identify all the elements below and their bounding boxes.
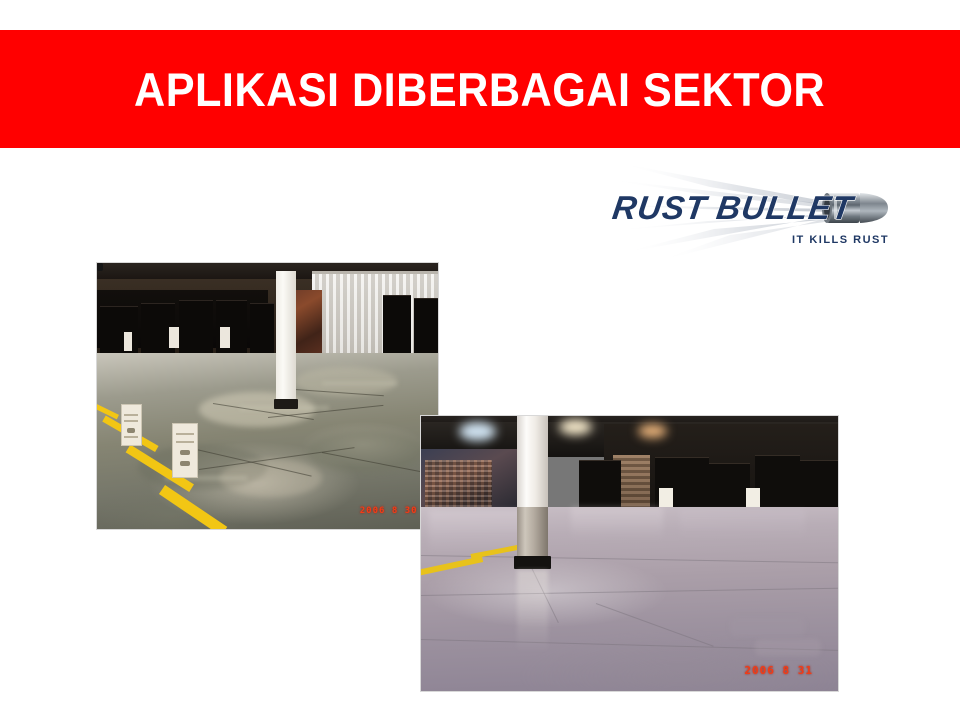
ceiling-light [638, 424, 667, 438]
floor-scuff [322, 382, 397, 385]
presentation-slide: APLIKASI DIBERBAGAI SEKTOR [0, 0, 960, 720]
ceiling-light [459, 422, 497, 441]
shelf-label [169, 327, 179, 348]
display-unit [179, 300, 213, 354]
shelf-label [124, 332, 132, 351]
display-unit [250, 303, 274, 355]
title-banner: APLIKASI DIBERBAGAI SEKTOR [0, 30, 960, 148]
shelf-label [220, 327, 230, 348]
ceiling-light [559, 419, 592, 436]
floor-patch [730, 617, 805, 635]
floor-reflection [680, 510, 805, 539]
display-unit [383, 295, 410, 355]
floor-reflection [571, 507, 663, 540]
support-column-base [514, 556, 550, 568]
before-photo[interactable]: 2006 8 30 [96, 262, 439, 530]
hanging-sign [121, 404, 142, 446]
column-reflection [517, 570, 548, 653]
support-column-wrap [276, 359, 296, 402]
photo-timestamp: 2006 8 31 [744, 664, 813, 677]
logo-wordmark-text: RUST BULLET [610, 190, 857, 227]
support-column-wrap [517, 507, 548, 559]
page-title: APLIKASI DIBERBAGAI SEKTOR [134, 66, 825, 113]
after-photo-scene: 2006 8 31 [421, 416, 838, 691]
floor-patch [755, 639, 822, 656]
hanging-sign [172, 423, 198, 478]
logo-tagline-text: IT KILLS RUST [792, 234, 889, 246]
after-photo[interactable]: 2006 8 31 [420, 415, 839, 692]
floor-seam [421, 588, 838, 596]
stanchion-head [97, 263, 103, 271]
support-column-base [274, 399, 298, 410]
display-unit [414, 298, 438, 355]
before-photo-scene: 2006 8 30 [97, 263, 438, 529]
rust-bullet-logo: RUST BULLET IT KILLS RUST [598, 157, 890, 261]
floor-seam [596, 603, 714, 647]
photo-timestamp: 2006 8 30 [360, 506, 418, 516]
